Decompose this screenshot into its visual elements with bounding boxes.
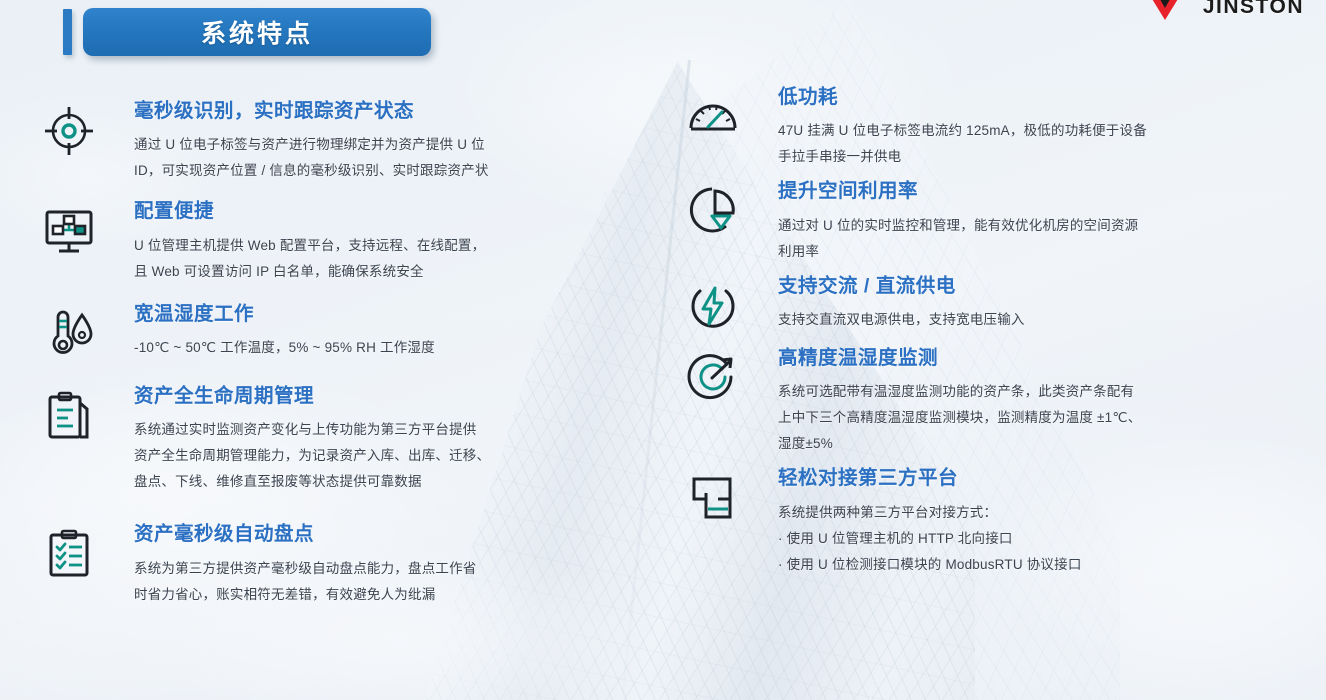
page-title-pill: 系统特点 bbox=[83, 8, 431, 56]
feature-body: 支持交流 / 直流供电 支持交直流双电源供电，支持宽电压输入 bbox=[744, 275, 1025, 333]
feature-item: 支持交流 / 直流供电 支持交直流双电源供电，支持宽电压输入 bbox=[682, 275, 1326, 337]
title-accent-bar bbox=[63, 9, 72, 55]
interlocking-squares-icon bbox=[682, 467, 744, 529]
brand-logo: JINSTON bbox=[1137, 0, 1304, 28]
feature-description: U 位管理主机提供 Web 配置平台，支持远程、在线配置， 且 Web 可设置访… bbox=[134, 233, 485, 285]
features-left-column: 毫秒级识别，实时跟踪资产状态 通过 U 位电子标签与资产进行物理绑定并为资产提供… bbox=[0, 86, 682, 618]
feature-title: 资产全生命周期管理 bbox=[134, 385, 490, 408]
feature-desc-line: 上中下三个高精度温湿度监测模块，监测精度为温度 ±1℃、 bbox=[778, 405, 1141, 431]
feature-title: 毫秒级识别，实时跟踪资产状态 bbox=[134, 100, 489, 123]
monitor-network-icon bbox=[38, 200, 100, 262]
feature-body: 配置便捷 U 位管理主机提供 Web 配置平台，支持远程、在线配置， 且 Web… bbox=[100, 200, 485, 284]
feature-desc-line: 47U 挂满 U 位电子标签电流约 125mA，极低的功耗便于设备 bbox=[778, 118, 1147, 144]
feature-desc-line: 手拉手串接一并供电 bbox=[778, 144, 1147, 170]
feature-body: 资产毫秒级自动盘点 系统为第三方提供资产毫秒级自动盘点能力，盘点工作省 时省力省… bbox=[100, 523, 477, 607]
feature-desc-line: 且 Web 可设置访问 IP 白名单，能确保系统安全 bbox=[134, 259, 485, 285]
feature-title: 高精度温湿度监测 bbox=[778, 347, 1141, 370]
feature-title: 提升空间利用率 bbox=[778, 180, 1138, 203]
feature-body: 轻松对接第三方平台 系统提供两种第三方平台对接方式： · 使用 U 位管理主机的… bbox=[744, 467, 1082, 577]
target-arrow-icon bbox=[682, 347, 744, 409]
feature-description: 47U 挂满 U 位电子标签电流约 125mA，极低的功耗便于设备 手拉手串接一… bbox=[778, 118, 1147, 170]
feature-item: 毫秒级识别，实时跟踪资产状态 通过 U 位电子标签与资产进行物理绑定并为资产提供… bbox=[38, 100, 682, 184]
clipboard-checklist-icon bbox=[38, 523, 100, 585]
feature-description: 通过 U 位电子标签与资产进行物理绑定并为资产提供 U 位 ID，可实现资产位置… bbox=[134, 132, 489, 184]
feature-body: 高精度温湿度监测 系统可选配带有温湿度监测功能的资产条，此类资产条配有 上中下三… bbox=[744, 347, 1141, 457]
feature-body: 宽温湿度工作 -10℃ ~ 50℃ 工作温度，5% ~ 95% RH 工作湿度 bbox=[100, 303, 435, 361]
crosshair-target-icon bbox=[38, 100, 100, 162]
feature-desc-line: 系统提供两种第三方平台对接方式： bbox=[778, 500, 1082, 526]
features-right-column: 低功耗 47U 挂满 U 位电子标签电流约 125mA，极低的功耗便于设备 手拉… bbox=[682, 86, 1326, 618]
feature-item: 高精度温湿度监测 系统可选配带有温湿度监测功能的资产条，此类资产条配有 上中下三… bbox=[682, 347, 1326, 457]
pie-chart-icon bbox=[682, 180, 744, 242]
feature-body: 提升空间利用率 通过对 U 位的实时监控和管理，能有效优化机房的空间资源 利用率 bbox=[744, 180, 1138, 264]
feature-title: 配置便捷 bbox=[134, 200, 485, 223]
feature-title: 低功耗 bbox=[778, 86, 1147, 109]
feature-description: 系统通过实时监测资产变化与上传功能为第三方平台提供 资产全生命周期管理能力，为记… bbox=[134, 417, 490, 495]
feature-body: 低功耗 47U 挂满 U 位电子标签电流约 125mA，极低的功耗便于设备 手拉… bbox=[744, 86, 1147, 170]
feature-title: 资产毫秒级自动盘点 bbox=[134, 523, 477, 546]
page-title: 系统特点 bbox=[201, 14, 313, 50]
feature-desc-line: 通过对 U 位的实时监控和管理，能有效优化机房的空间资源 bbox=[778, 213, 1138, 239]
feature-description: 系统提供两种第三方平台对接方式： · 使用 U 位管理主机的 HTTP 北向接口… bbox=[778, 500, 1082, 578]
feature-desc-line: 利用率 bbox=[778, 239, 1138, 265]
feature-item: 宽温湿度工作 -10℃ ~ 50℃ 工作温度，5% ~ 95% RH 工作湿度 bbox=[38, 303, 682, 365]
feature-item: 低功耗 47U 挂满 U 位电子标签电流约 125mA，极低的功耗便于设备 手拉… bbox=[682, 86, 1326, 170]
feature-desc-line: 系统为第三方提供资产毫秒级自动盘点能力，盘点工作省 bbox=[134, 556, 477, 582]
features-grid: 毫秒级识别，实时跟踪资产状态 通过 U 位电子标签与资产进行物理绑定并为资产提供… bbox=[0, 86, 1326, 618]
feature-description: 系统为第三方提供资产毫秒级自动盘点能力，盘点工作省 时省力省心，账实相符无差错，… bbox=[134, 556, 477, 608]
section-header: 系统特点 bbox=[63, 8, 431, 56]
clipboard-lines-icon bbox=[38, 385, 100, 447]
feature-body: 毫秒级识别，实时跟踪资产状态 通过 U 位电子标签与资产进行物理绑定并为资产提供… bbox=[100, 100, 489, 184]
feature-item: 轻松对接第三方平台 系统提供两种第三方平台对接方式： · 使用 U 位管理主机的… bbox=[682, 467, 1326, 577]
feature-desc-line: 时省力省心，账实相符无差错，有效避免人为纰漏 bbox=[134, 582, 477, 608]
feature-desc-line: -10℃ ~ 50℃ 工作温度，5% ~ 95% RH 工作湿度 bbox=[134, 335, 435, 361]
feature-desc-line: 支持交直流双电源供电，支持宽电压输入 bbox=[778, 307, 1025, 333]
feature-title: 宽温湿度工作 bbox=[134, 303, 435, 326]
feature-desc-line: 资产全生命周期管理能力，为记录资产入库、出库、迁移、 bbox=[134, 443, 490, 469]
feature-description: 系统可选配带有温湿度监测功能的资产条，此类资产条配有 上中下三个高精度温湿度监测… bbox=[778, 379, 1141, 457]
chevron-mark-icon bbox=[1137, 0, 1193, 28]
feature-desc-line: 通过 U 位电子标签与资产进行物理绑定并为资产提供 U 位 bbox=[134, 132, 489, 158]
feature-body: 资产全生命周期管理 系统通过实时监测资产变化与上传功能为第三方平台提供 资产全生… bbox=[100, 385, 490, 495]
feature-title: 支持交流 / 直流供电 bbox=[778, 275, 1025, 298]
feature-description: 通过对 U 位的实时监控和管理，能有效优化机房的空间资源 利用率 bbox=[778, 213, 1138, 265]
feature-desc-line: 湿度±5% bbox=[778, 431, 1141, 457]
feature-item: 资产毫秒级自动盘点 系统为第三方提供资产毫秒级自动盘点能力，盘点工作省 时省力省… bbox=[38, 523, 682, 607]
thermometer-humidity-icon bbox=[38, 303, 100, 365]
feature-desc-line: 系统通过实时监测资产变化与上传功能为第三方平台提供 bbox=[134, 417, 490, 443]
lightning-bolt-icon bbox=[682, 275, 744, 337]
feature-desc-line: ID，可实现资产位置 / 信息的毫秒级识别、实时跟踪资产状 bbox=[134, 158, 489, 184]
brand-name: JINSTON bbox=[1203, 0, 1304, 19]
feature-desc-line: 盘点、下线、维修直至报废等状态提供可靠数据 bbox=[134, 469, 490, 495]
feature-desc-line: 系统可选配带有温湿度监测功能的资产条，此类资产条配有 bbox=[778, 379, 1141, 405]
feature-desc-line: · 使用 U 位管理主机的 HTTP 北向接口 bbox=[778, 526, 1082, 552]
feature-item: 配置便捷 U 位管理主机提供 Web 配置平台，支持远程、在线配置， 且 Web… bbox=[38, 200, 682, 284]
feature-description: 支持交直流双电源供电，支持宽电压输入 bbox=[778, 307, 1025, 333]
feature-description: -10℃ ~ 50℃ 工作温度，5% ~ 95% RH 工作湿度 bbox=[134, 335, 435, 361]
gauge-speedometer-icon bbox=[682, 86, 744, 148]
feature-desc-line: · 使用 U 位检测接口模块的 ModbusRTU 协议接口 bbox=[778, 552, 1082, 578]
feature-item: 资产全生命周期管理 系统通过实时监测资产变化与上传功能为第三方平台提供 资产全生… bbox=[38, 385, 682, 495]
feature-desc-line: U 位管理主机提供 Web 配置平台，支持远程、在线配置， bbox=[134, 233, 485, 259]
feature-item: 提升空间利用率 通过对 U 位的实时监控和管理，能有效优化机房的空间资源 利用率 bbox=[682, 180, 1326, 264]
feature-title: 轻松对接第三方平台 bbox=[778, 467, 1082, 490]
